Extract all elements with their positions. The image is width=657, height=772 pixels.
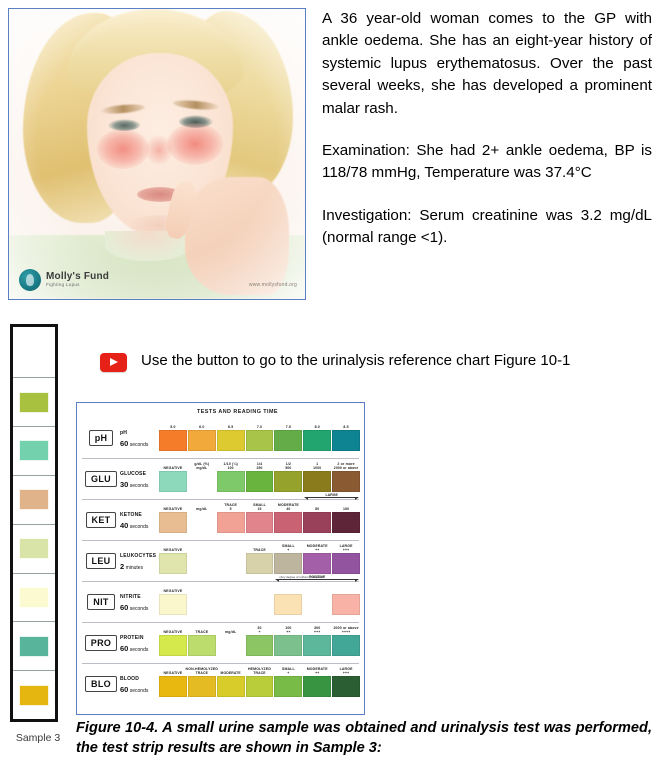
row-tag-wrap: GLU: [82, 461, 120, 497]
row-reading-time: 60 seconds: [120, 644, 160, 655]
color-swatch: [303, 430, 331, 451]
chart-rows: pHpH60 seconds5.06.06.57.07.58.08.5GLUGL…: [82, 418, 359, 704]
swatch-spacer: [189, 594, 215, 613]
swatch-cell: 30+: [247, 625, 273, 656]
vignette-investigation: Investigation: Serum creatinine was 3.2 …: [322, 205, 652, 250]
color-swatch: [274, 471, 302, 492]
swatch-caption: 8.0: [315, 420, 320, 430]
color-swatch: [303, 676, 331, 697]
swatch-cell: 5.0: [160, 420, 186, 451]
color-swatch: [303, 471, 331, 492]
swatch-cell: 160: [333, 502, 359, 533]
swatch-cell: mg/dL: [218, 625, 244, 656]
row-swatches: NEGATIVENON-HEMOLYZEDTRACEMODERATEHEMOLY…: [160, 666, 359, 697]
test-strip-cell: [13, 525, 55, 574]
color-swatch: [159, 676, 187, 697]
row-body-inner: PROTEIN60 secondsNEGATIVETRACEmg/dL30+10…: [120, 625, 359, 656]
test-strip-pad-ph: [19, 392, 49, 413]
urinalysis-reference-chart: TESTS AND READING TIME pHpH60 seconds5.0…: [76, 402, 365, 715]
swatch-cell: NEGATIVE: [160, 584, 186, 615]
test-strip-pad-pro: [19, 636, 49, 657]
swatch-caption: 8.5: [343, 420, 348, 430]
chart-row-blo: BLOBLOOD60 secondsNEGATIVENON-HEMOLYZEDT…: [82, 663, 359, 704]
swatch-spacer: [218, 553, 244, 572]
color-swatch: [159, 430, 187, 451]
youtube-play-icon[interactable]: [100, 353, 127, 372]
swatch-cell: NON-HEMOLYZEDTRACE: [189, 666, 215, 697]
row-body-inner: pH60 seconds5.06.06.57.07.58.08.5: [120, 420, 359, 451]
swatch-cell: 100++: [275, 625, 301, 656]
test-tag-glu: GLU: [85, 471, 117, 487]
swatch-cell: 8.0: [304, 420, 330, 451]
row-body-inner: LEUKOCYTES2 minutesNEGATIVETRACESMALL+MO…: [120, 543, 359, 574]
swatch-spacer: [304, 594, 330, 613]
row-reading-time: 60 seconds: [120, 603, 160, 614]
chart-row-nit: NITNITRITE60 secondsNEGATIVEPOSITIVE(Any…: [82, 581, 359, 622]
swatch-cell: [218, 543, 244, 574]
swatch-cell: TRACE: [247, 543, 273, 574]
row-body-inner: GLUCOSE30 secondsNEGATIVEg/dL (%)mg/dL1/…: [120, 461, 359, 492]
swatch-caption: MODERATE: [220, 666, 240, 676]
swatch-caption: mg/dL: [225, 625, 236, 635]
color-swatch: [188, 430, 216, 451]
swatch-caption: MODERATE++: [307, 666, 328, 676]
row-test-name: GLUCOSE: [120, 471, 160, 478]
swatch-caption: HEMOLYZEDTRACE: [248, 666, 271, 676]
row-body: GLUCOSE30 secondsNEGATIVEg/dL (%)mg/dL1/…: [120, 461, 359, 497]
swatch-caption: NEGATIVE: [164, 666, 183, 676]
swatch-cell: NEGATIVE: [160, 625, 186, 656]
swatch-caption: SMALL15: [253, 502, 266, 512]
swatch-cell: NEGATIVE: [160, 543, 186, 574]
swatch-caption: SMALL+: [282, 666, 295, 676]
swatch-caption: 1/4250: [256, 461, 262, 471]
row-swatches: NEGATIVETRACEmg/dL30+100++300+++2000 or …: [160, 625, 359, 656]
row-tag-wrap: pH: [82, 420, 120, 456]
color-swatch: [332, 676, 360, 697]
swatch-spacer: [218, 635, 244, 654]
swatch-cell: 300+++: [304, 625, 330, 656]
swatch-caption: 100++: [285, 625, 291, 635]
photo-vignette-overlay: [9, 9, 305, 299]
watermark-url: www.mollysfund.org: [249, 282, 297, 288]
swatch-caption: 1/2500: [285, 461, 291, 471]
test-strip-pad-leu: [19, 538, 49, 559]
color-swatch: [246, 676, 274, 697]
swatch-cell: NEGATIVE: [160, 666, 186, 697]
swatch-cell: SMALL+: [275, 666, 301, 697]
photo-illustration: [9, 9, 305, 299]
row-name: LEUKOCYTES2 minutes: [120, 553, 160, 574]
row-body: PROTEIN60 secondsNEGATIVETRACEmg/dL30+10…: [120, 625, 359, 661]
row-test-name: BLOOD: [120, 676, 160, 683]
swatch-caption: NEGATIVE: [164, 625, 183, 635]
swatch-cell: 1/10 (¼)100: [218, 461, 244, 492]
swatch-cell: MODERATE: [218, 666, 244, 697]
row-reading-time: 2 minutes: [120, 562, 160, 573]
row-swatches: 5.06.06.57.07.58.08.5: [160, 420, 359, 451]
test-strip-pad-blo: [19, 685, 49, 706]
swatch-cell: 2 or more2000 or above: [333, 461, 359, 492]
row-test-name: NITRITE: [120, 594, 160, 601]
color-swatch: [217, 471, 245, 492]
chart-row-pro: PROPROTEIN60 secondsNEGATIVETRACEmg/dL30…: [82, 622, 359, 663]
test-strip-cell: [13, 476, 55, 525]
color-swatch: [217, 430, 245, 451]
vignette-examination: Examination: She had 2+ ankle oedema, BP…: [322, 140, 652, 185]
row-reading-time: 60 seconds: [120, 439, 160, 450]
color-swatch: [332, 512, 360, 533]
swatch-caption: TRACE: [195, 625, 208, 635]
row-tag-wrap: KET: [82, 502, 120, 538]
test-strip-cell: [13, 378, 55, 427]
swatch-caption: 80: [315, 502, 319, 512]
case-vignette: A 36 year-old woman comes to the GP with…: [322, 8, 652, 250]
range-bracket: LARGE: [304, 494, 359, 501]
swatch-cell: 1/4250: [247, 461, 273, 492]
row-body: NITRITE60 secondsNEGATIVEPOSITIVE(Any de…: [120, 584, 359, 620]
swatch-cell: [247, 584, 273, 615]
swatch-caption: 6.5: [228, 420, 233, 430]
row-name: NITRITE60 seconds: [120, 594, 160, 615]
color-swatch: [188, 676, 216, 697]
color-swatch: [188, 635, 216, 656]
swatch-cell: 2000 or above++++: [333, 625, 359, 656]
swatch-cell: [304, 584, 330, 615]
color-swatch: [332, 430, 360, 451]
swatch-cell: TRACE5: [218, 502, 244, 533]
swatch-caption: NON-HEMOLYZEDTRACE: [186, 666, 219, 676]
swatch-caption: mg/dL: [196, 502, 207, 512]
color-swatch: [274, 635, 302, 656]
color-swatch: [332, 553, 360, 574]
row-test-name: LEUKOCYTES: [120, 553, 160, 560]
row-note: (Any degree of uniform pink color): [275, 576, 327, 580]
color-swatch: [303, 553, 331, 574]
swatch-cell: 1/2500: [275, 461, 301, 492]
figure-caption: Figure 10-4. A small urine sample was ob…: [76, 718, 652, 758]
color-swatch: [246, 635, 274, 656]
swatch-cell: 8.5: [333, 420, 359, 451]
swatch-cell: 6.0: [189, 420, 215, 451]
swatch-cell: [189, 584, 215, 615]
swatch-caption: MODERATE++: [307, 543, 328, 553]
watermark-brand: Molly's Fund: [46, 272, 109, 282]
test-strip-pad-ket: [19, 489, 49, 510]
swatch-cell: TRACE: [189, 625, 215, 656]
swatch-caption: NEGATIVE: [164, 461, 183, 471]
row-tag-wrap: BLO: [82, 666, 120, 702]
swatch-caption: 7.0: [257, 420, 262, 430]
color-swatch: [246, 471, 274, 492]
row-tag-wrap: LEU: [82, 543, 120, 579]
color-swatch: [332, 635, 360, 656]
row-name: pH60 seconds: [120, 430, 160, 451]
swatch-caption: 300+++: [314, 625, 320, 635]
video-prompt-row: Use the button to go to the urinalysis r…: [100, 350, 648, 372]
test-strip-cell: [13, 574, 55, 623]
row-body: pH60 seconds5.06.06.57.07.58.08.5: [120, 420, 359, 456]
test-strip-cell: [13, 427, 55, 476]
test-strip-pad-nit: [19, 587, 49, 608]
color-swatch: [246, 430, 274, 451]
row-swatches: NEGATIVETRACESMALL+MODERATE++LARGE+++: [160, 543, 359, 574]
row-body: LEUKOCYTES2 minutesNEGATIVETRACESMALL+MO…: [120, 543, 359, 579]
swatch-caption: NEGATIVE: [164, 543, 183, 553]
row-reading-time: 40 seconds: [120, 521, 160, 532]
row-swatches: NEGATIVEmg/dLTRACE5SMALL15MODERATE40LARG…: [160, 502, 359, 533]
swatch-caption: NEGATIVE: [164, 584, 183, 594]
swatch-caption: g/dL (%)mg/dL: [194, 461, 209, 471]
swatch-cell: [333, 584, 359, 615]
row-reading-time: 30 seconds: [120, 480, 160, 491]
swatch-cell: LARGE+++: [333, 666, 359, 697]
swatch-caption: SMALL+: [282, 543, 295, 553]
swatch-cell: MODERATE++: [304, 543, 330, 574]
sample-test-strip: Sample 3: [10, 324, 66, 744]
swatch-caption: 11000: [313, 461, 321, 471]
color-swatch: [274, 553, 302, 574]
swatch-cell: HEMOLYZEDTRACE: [247, 666, 273, 697]
swatch-cell: 7.0: [247, 420, 273, 451]
mollys-fund-logo-icon: [19, 269, 41, 291]
color-swatch: [303, 512, 331, 533]
swatch-caption: 5.0: [170, 420, 175, 430]
watermark-text: Molly's Fund Fighting Lupus: [46, 272, 109, 288]
row-body: BLOOD60 secondsNEGATIVENON-HEMOLYZEDTRAC…: [120, 666, 359, 702]
swatch-spacer: [189, 471, 215, 490]
swatch-caption: 30+: [257, 625, 261, 635]
test-strip-cell: [13, 671, 55, 719]
color-swatch: [159, 553, 187, 574]
row-tag-wrap: PRO: [82, 625, 120, 661]
row-test-name: pH: [120, 430, 160, 437]
row-name: GLUCOSE30 seconds: [120, 471, 160, 492]
row-name: BLOOD60 seconds: [120, 676, 160, 697]
swatch-cell: NEGATIVE: [160, 461, 186, 492]
swatch-caption: MODERATE40: [278, 502, 299, 512]
color-swatch: [332, 471, 360, 492]
swatch-cell: MODERATE++: [304, 666, 330, 697]
test-tag-leu: LEU: [86, 553, 117, 569]
row-body-inner: BLOOD60 secondsNEGATIVENON-HEMOLYZEDTRAC…: [120, 666, 359, 697]
color-swatch: [159, 512, 187, 533]
swatch-caption: NEGATIVE: [164, 502, 183, 512]
color-swatch: [332, 594, 360, 615]
test-strip-cell: [13, 622, 55, 671]
color-swatch: [217, 676, 245, 697]
swatch-cell: 6.5: [218, 420, 244, 451]
swatch-spacer: [218, 594, 244, 613]
video-prompt-text: Use the button to go to the urinalysis r…: [141, 350, 570, 371]
swatch-spacer: [189, 553, 215, 572]
swatch-cell: g/dL (%)mg/dL: [189, 461, 215, 492]
swatch-caption: TRACE: [253, 543, 266, 553]
color-swatch: [246, 512, 274, 533]
swatch-spacer: [247, 594, 273, 613]
color-swatch: [159, 635, 187, 656]
swatch-cell: [189, 543, 215, 574]
swatch-cell: 7.5: [275, 420, 301, 451]
swatch-caption: 1/10 (¼)100: [224, 461, 238, 471]
color-swatch: [217, 512, 245, 533]
color-swatch: [274, 512, 302, 533]
swatch-cell: NEGATIVE: [160, 502, 186, 533]
test-tag-ket: KET: [86, 512, 117, 528]
vignette-history: A 36 year-old woman comes to the GP with…: [322, 8, 652, 120]
test-tag-pro: PRO: [85, 635, 117, 651]
swatch-spacer: [189, 512, 215, 531]
chart-title: TESTS AND READING TIME: [82, 409, 359, 415]
swatch-caption: 2 or more2000 or above: [334, 461, 359, 471]
swatch-caption: 6.0: [199, 420, 204, 430]
row-name: KETONE40 seconds: [120, 512, 160, 533]
swatch-cell: LARGE80: [304, 502, 330, 533]
test-tag-blo: BLO: [85, 676, 117, 692]
row-name: PROTEIN60 seconds: [120, 635, 160, 656]
bracket-label: LARGE: [304, 493, 359, 497]
row-tag-wrap: NIT: [82, 584, 120, 620]
test-tag-nit: NIT: [87, 594, 114, 610]
swatch-cell: POSITIVE(Any degree of uniform pink colo…: [275, 584, 301, 615]
swatch-cell: SMALL+: [275, 543, 301, 574]
swatch-caption: 7.5: [286, 420, 291, 430]
swatch-cell: SMALL15: [247, 502, 273, 533]
swatch-caption: TRACE5: [224, 502, 237, 512]
swatch-caption: LARGE+++: [340, 666, 353, 676]
swatch-caption: 2000 or above++++: [333, 625, 358, 635]
row-swatches: NEGATIVEg/dL (%)mg/dL1/10 (¼)1001/42501/…: [160, 461, 359, 492]
test-strip-body: [10, 324, 58, 722]
color-swatch: [274, 676, 302, 697]
color-swatch: [274, 430, 302, 451]
color-swatch: [274, 594, 302, 615]
row-body-inner: KETONE40 secondsNEGATIVEmg/dLTRACE5SMALL…: [120, 502, 359, 533]
color-swatch: [303, 635, 331, 656]
swatch-cell: mg/dL: [189, 502, 215, 533]
chart-row-ket: KETKETONE40 secondsNEGATIVEmg/dLTRACE5SM…: [82, 499, 359, 540]
watermark-tagline: Fighting Lupus: [46, 283, 109, 288]
color-swatch: [246, 553, 274, 574]
test-strip-label: Sample 3: [10, 732, 66, 744]
row-body-inner: NITRITE60 secondsNEGATIVEPOSITIVE(Any de…: [120, 584, 359, 615]
test-strip-cell: [13, 327, 55, 378]
row-test-name: KETONE: [120, 512, 160, 519]
row-reading-time: 60 seconds: [120, 685, 160, 696]
swatch-cell: [218, 584, 244, 615]
swatch-cell: LARGE+++: [333, 543, 359, 574]
row-test-name: PROTEIN: [120, 635, 160, 642]
swatch-caption: LARGE+++: [340, 543, 353, 553]
chart-row-ph: pHpH60 seconds5.06.06.57.07.58.08.5: [82, 418, 359, 458]
color-swatch: [159, 594, 187, 615]
test-strip-pad-glu: [19, 440, 49, 461]
swatch-caption: 160: [343, 502, 349, 512]
row-swatches: NEGATIVEPOSITIVE(Any degree of uniform p…: [160, 584, 359, 615]
swatch-cell: MODERATE40: [275, 502, 301, 533]
watermark: Molly's Fund Fighting Lupus: [19, 269, 109, 291]
color-swatch: [159, 471, 187, 492]
swatch-cell: 11000: [304, 461, 330, 492]
test-tag-ph: pH: [89, 430, 114, 446]
row-body: KETONE40 secondsNEGATIVEmg/dLTRACE5SMALL…: [120, 502, 359, 538]
clinical-photo: Molly's Fund Fighting Lupus www.mollysfu…: [8, 8, 306, 300]
